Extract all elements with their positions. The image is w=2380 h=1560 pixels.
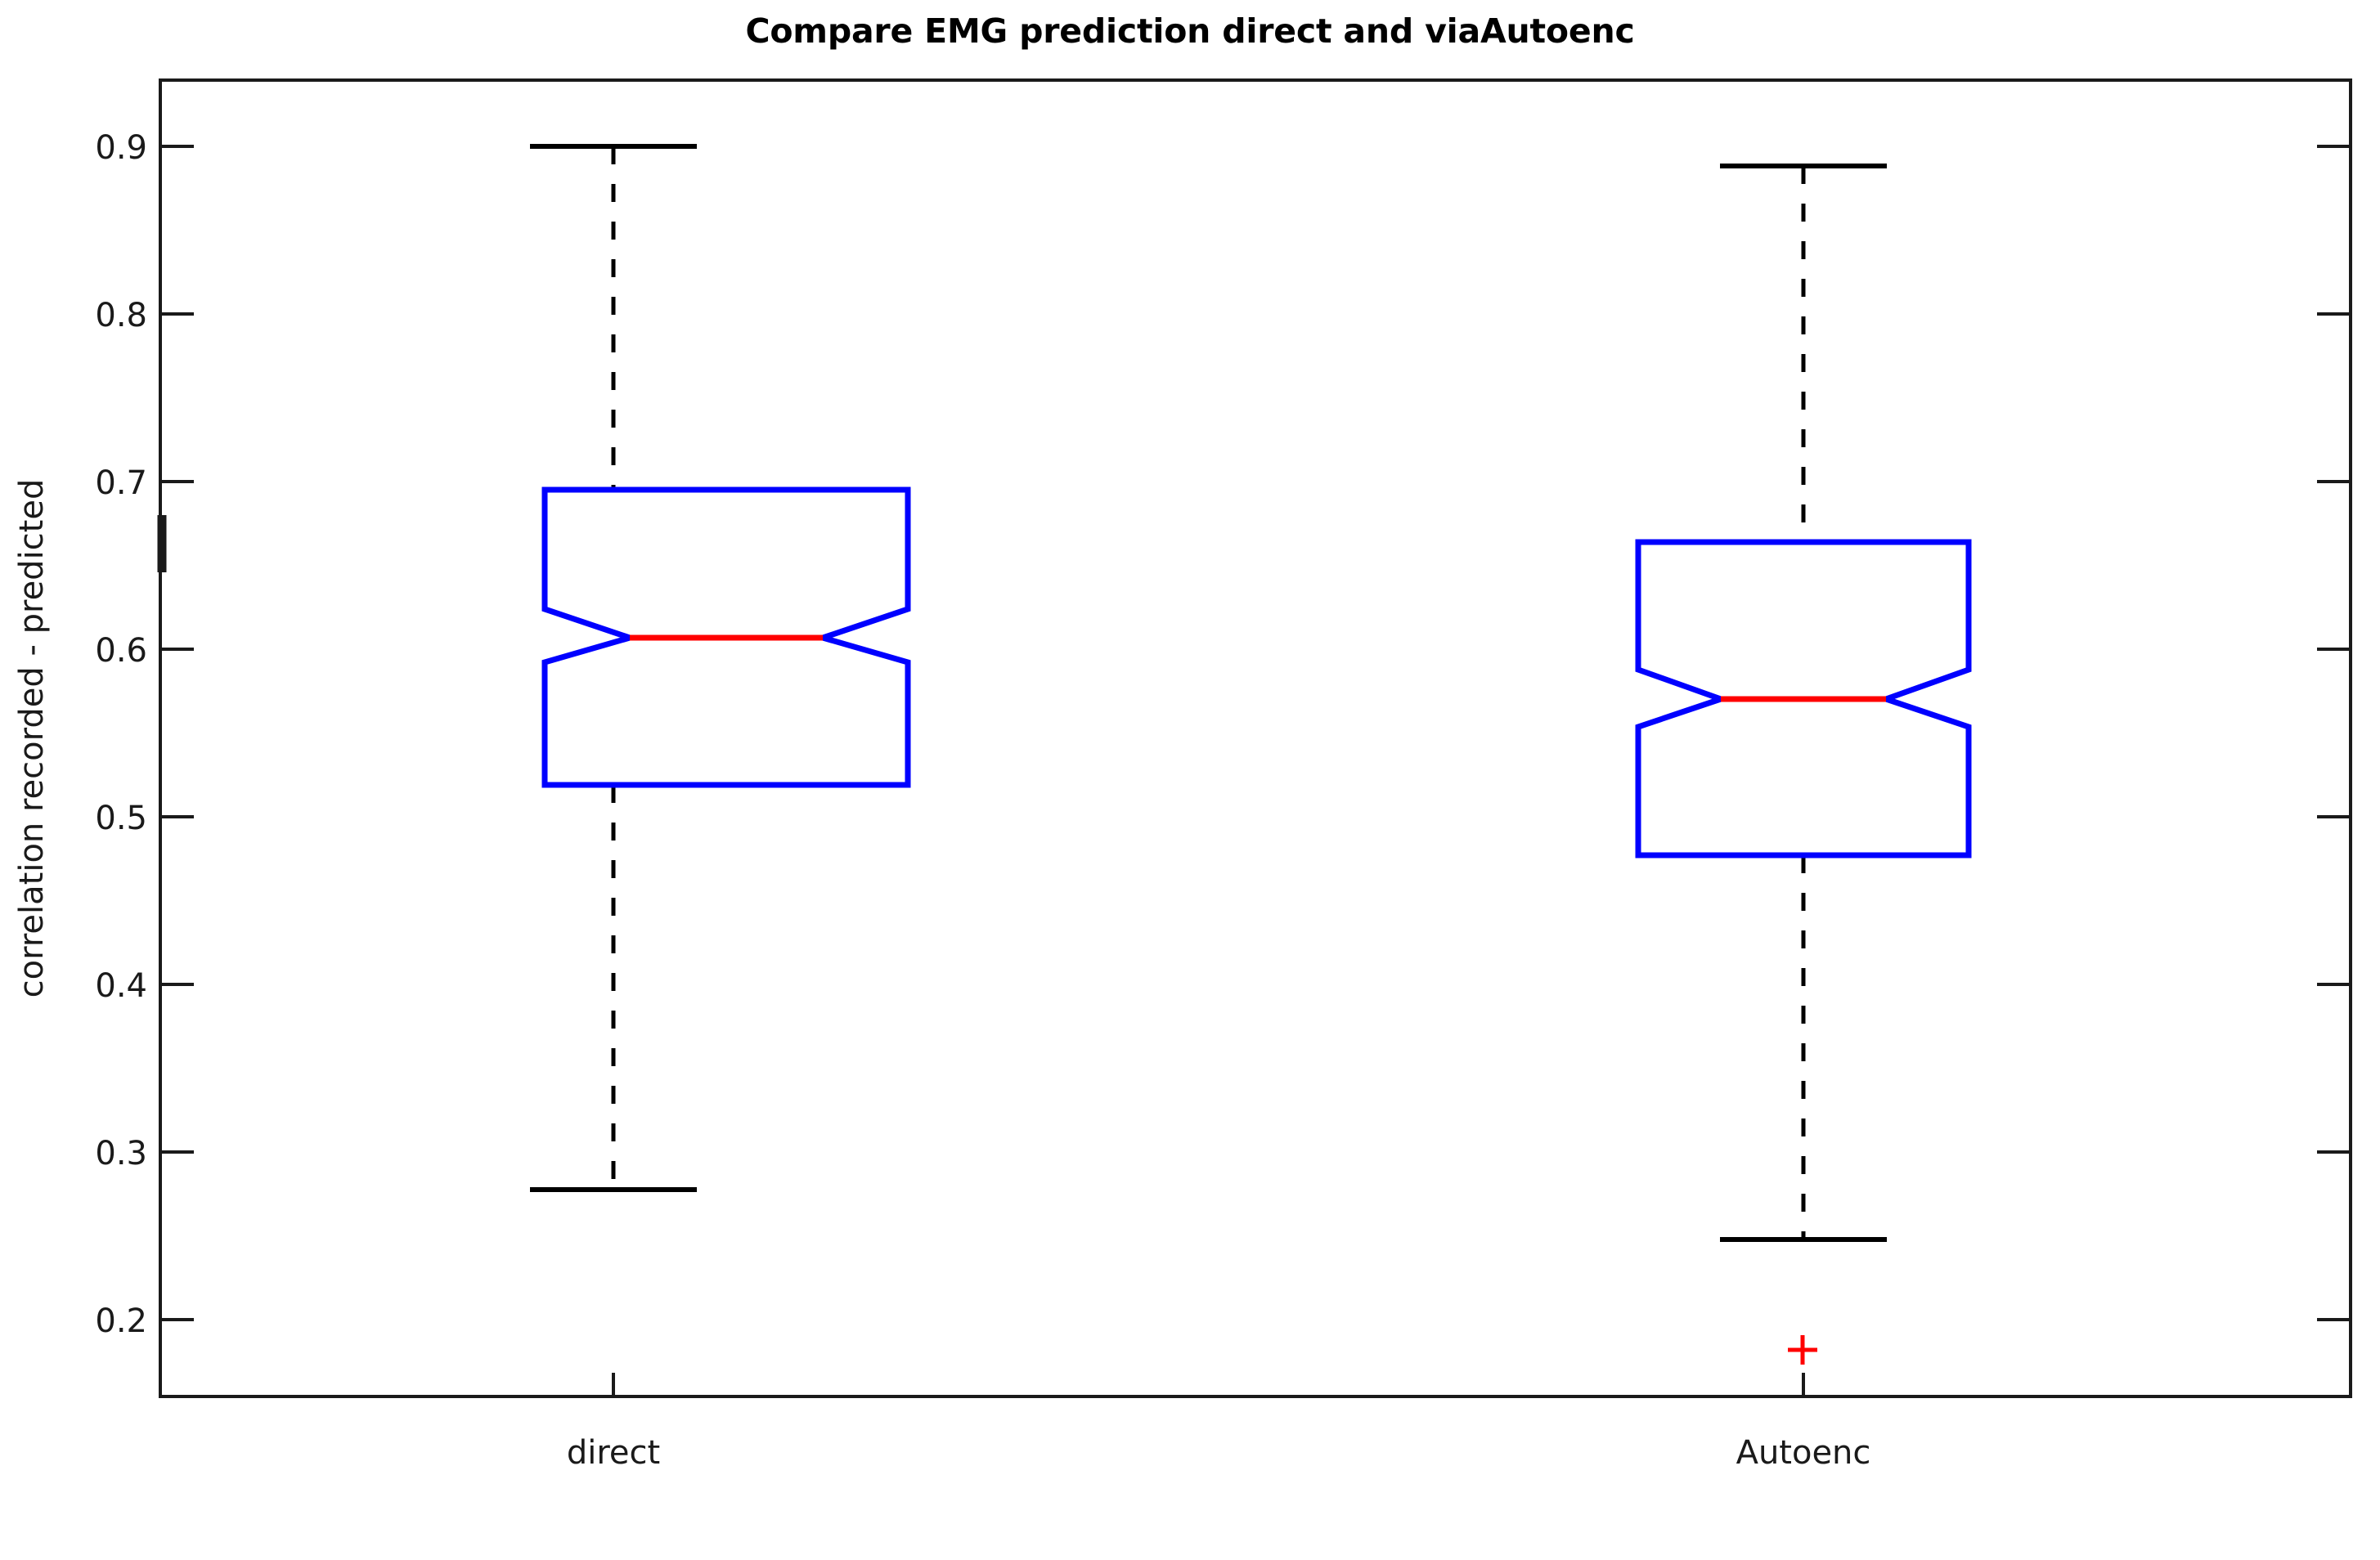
y-tick-label-6: 0.3: [95, 1135, 147, 1172]
x-category-label-direct: direct: [567, 1434, 660, 1472]
x-category-label-autoenc: Autoenc: [1736, 1434, 1871, 1472]
y-tick-label-7: 0.2: [95, 1302, 147, 1340]
y-tick-label-0: 0.9: [95, 129, 147, 167]
y-tick-label-5: 0.4: [95, 967, 147, 1005]
y-tick-label-3: 0.6: [95, 632, 147, 670]
y-axis-label: correlation recorded - predicted: [13, 479, 51, 998]
boxplot-svg: 0.9 0.8 0.7 0.6 0.5 0.4 0.3 0.2 correlat…: [0, 0, 2380, 1560]
y-axis-tick-labels: 0.9 0.8 0.7 0.6 0.5 0.4 0.3 0.2: [95, 129, 147, 1340]
y-tick-label-4: 0.5: [95, 800, 147, 837]
figure-canvas: Compare EMG prediction direct and viaAut…: [0, 0, 2380, 1560]
y-tick-label-2: 0.7: [95, 464, 147, 502]
plot-frame: [160, 80, 2351, 1396]
y-tick-label-1: 0.8: [95, 297, 147, 334]
